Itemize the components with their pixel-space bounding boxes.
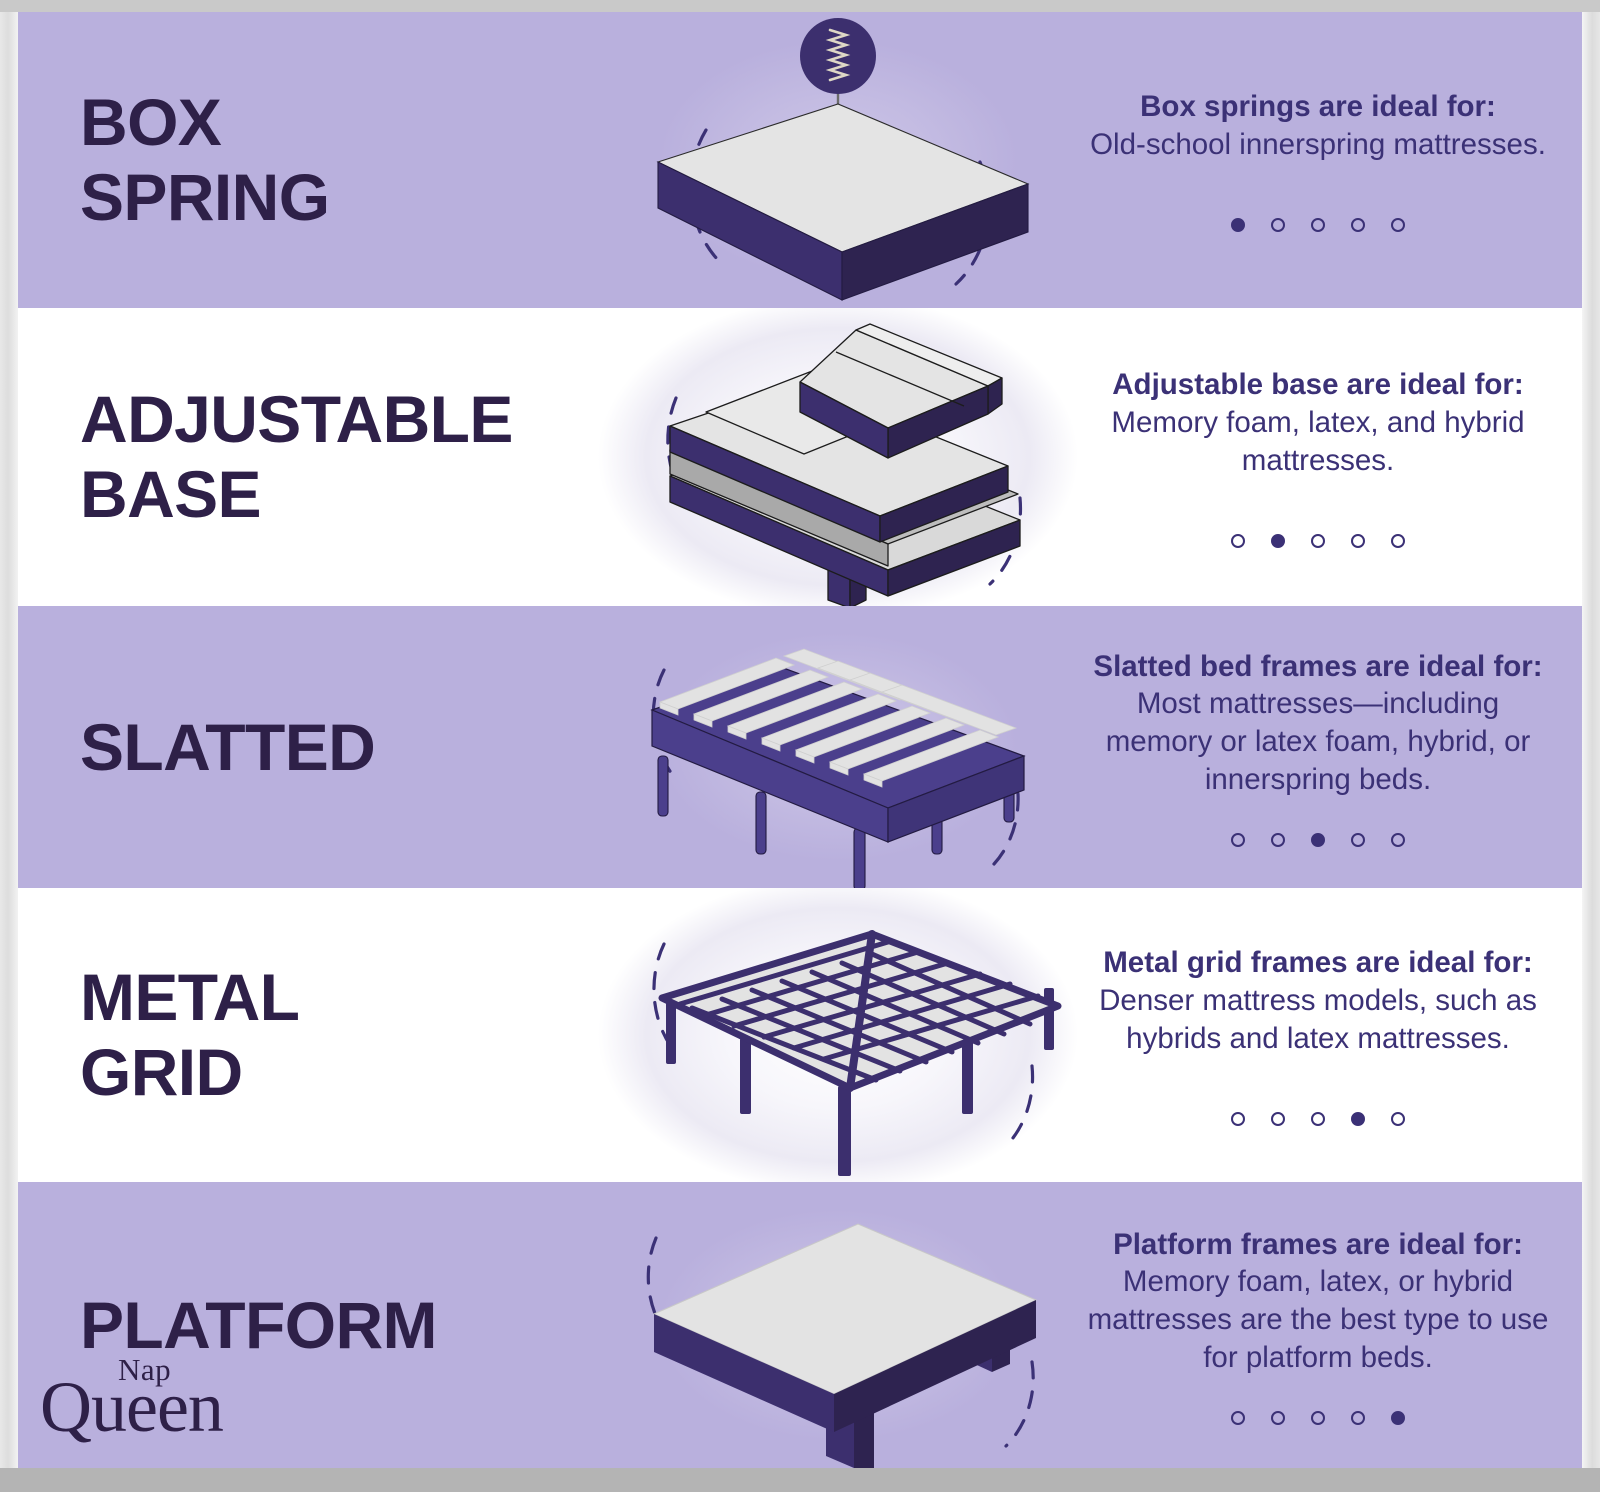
illustration-glow bbox=[588, 1182, 1088, 1468]
blurb-lead: Box springs are ideal for: bbox=[1090, 88, 1546, 126]
progress-dot-4[interactable] bbox=[1351, 833, 1365, 847]
progress-dot-1[interactable] bbox=[1231, 1411, 1245, 1425]
progress-dot-2[interactable] bbox=[1271, 218, 1285, 232]
section-slatted: SLATTED bbox=[18, 606, 1582, 888]
platform-frame-illustration bbox=[588, 1182, 1088, 1468]
text-column: Metal grid frames are ideal for: Denser … bbox=[1058, 888, 1582, 1182]
progress-dot-1[interactable] bbox=[1231, 833, 1245, 847]
section-blurb: Metal grid frames are ideal for: Denser … bbox=[1083, 944, 1553, 1057]
progress-dot-4[interactable] bbox=[1351, 534, 1365, 548]
blurb-body: Memory foam, latex, or hybrid mattresses… bbox=[1083, 1263, 1553, 1376]
progress-dot-4[interactable] bbox=[1351, 1112, 1365, 1126]
page-bottom-edge bbox=[0, 1468, 1600, 1492]
section-blurb: Adjustable base are ideal for: Memory fo… bbox=[1083, 366, 1553, 479]
progress-dot-1[interactable] bbox=[1231, 534, 1245, 548]
illustration-glow bbox=[588, 888, 1088, 1182]
infographic-content: BOX SPRING bbox=[18, 12, 1582, 1468]
section-title: PLATFORM bbox=[80, 1288, 618, 1363]
progress-dot-2[interactable] bbox=[1271, 1112, 1285, 1126]
progress-dots bbox=[1231, 1411, 1405, 1425]
illustration-column bbox=[618, 12, 1058, 308]
progress-dot-2[interactable] bbox=[1271, 1411, 1285, 1425]
text-column: Adjustable base are ideal for: Memory fo… bbox=[1058, 308, 1582, 606]
progress-dot-2[interactable] bbox=[1271, 534, 1285, 548]
section-title: BOX SPRING bbox=[80, 85, 618, 234]
progress-dot-2[interactable] bbox=[1271, 833, 1285, 847]
section-adjustable-base: ADJUSTABLE BASE bbox=[18, 308, 1582, 606]
slatted-frame-illustration bbox=[588, 606, 1088, 888]
progress-dot-1[interactable] bbox=[1231, 218, 1245, 232]
progress-dot-3[interactable] bbox=[1311, 1411, 1325, 1425]
title-column: METAL GRID bbox=[18, 888, 618, 1182]
blurb-lead: Platform frames are ideal for: bbox=[1083, 1226, 1553, 1264]
progress-dots bbox=[1231, 1112, 1405, 1126]
title-column: SLATTED bbox=[18, 606, 618, 888]
text-column: Slatted bed frames are ideal for: Most m… bbox=[1058, 606, 1582, 888]
illustration-column bbox=[618, 308, 1058, 606]
progress-dot-5[interactable] bbox=[1391, 1112, 1405, 1126]
illustration-glow bbox=[588, 12, 1088, 308]
blurb-body: Memory foam, latex, and hybrid mattresse… bbox=[1083, 404, 1553, 480]
infographic-page: BOX SPRING bbox=[0, 0, 1600, 1492]
section-blurb: Platform frames are ideal for: Memory fo… bbox=[1083, 1226, 1553, 1377]
section-box-spring: BOX SPRING bbox=[18, 12, 1582, 308]
illustration-column bbox=[618, 606, 1058, 888]
progress-dots bbox=[1231, 218, 1405, 232]
progress-dots bbox=[1231, 833, 1405, 847]
blurb-lead: Slatted bed frames are ideal for: bbox=[1083, 648, 1553, 686]
progress-dot-4[interactable] bbox=[1351, 218, 1365, 232]
section-blurb: Slatted bed frames are ideal for: Most m… bbox=[1083, 648, 1553, 799]
page-top-edge bbox=[0, 0, 1600, 12]
progress-dot-5[interactable] bbox=[1391, 218, 1405, 232]
text-column: Platform frames are ideal for: Memory fo… bbox=[1058, 1182, 1582, 1468]
progress-dot-5[interactable] bbox=[1391, 1411, 1405, 1425]
text-column: Box springs are ideal for: Old-school in… bbox=[1058, 12, 1582, 308]
progress-dot-3[interactable] bbox=[1311, 1112, 1325, 1126]
section-metal-grid: METAL GRID bbox=[18, 888, 1582, 1182]
adjustable-base-illustration bbox=[588, 308, 1088, 606]
progress-dot-4[interactable] bbox=[1351, 1411, 1365, 1425]
blurb-body: Old-school innerspring mattresses. bbox=[1090, 126, 1546, 164]
illustration-column bbox=[618, 888, 1058, 1182]
section-title: SLATTED bbox=[80, 710, 618, 785]
blurb-lead: Adjustable base are ideal for: bbox=[1083, 366, 1553, 404]
blurb-body: Denser mattress models, such as hybrids … bbox=[1083, 982, 1553, 1058]
metal-grid-illustration bbox=[588, 888, 1088, 1182]
title-column: PLATFORM bbox=[18, 1182, 618, 1468]
progress-dot-1[interactable] bbox=[1231, 1112, 1245, 1126]
illustration-glow bbox=[588, 308, 1088, 606]
progress-dot-3[interactable] bbox=[1311, 218, 1325, 232]
progress-dot-3[interactable] bbox=[1311, 833, 1325, 847]
spring-detail-circle bbox=[800, 18, 876, 94]
blurb-body: Most mattresses—including memory or late… bbox=[1083, 685, 1553, 798]
progress-dot-5[interactable] bbox=[1391, 833, 1405, 847]
section-title: ADJUSTABLE BASE bbox=[80, 382, 618, 531]
title-column: ADJUSTABLE BASE bbox=[18, 308, 618, 606]
section-blurb: Box springs are ideal for: Old-school in… bbox=[1090, 88, 1546, 164]
illustration-column bbox=[618, 1182, 1058, 1468]
progress-dot-5[interactable] bbox=[1391, 534, 1405, 548]
section-platform: PLATFORM bbox=[18, 1182, 1582, 1468]
illustration-glow bbox=[588, 606, 1088, 888]
progress-dot-3[interactable] bbox=[1311, 534, 1325, 548]
blurb-lead: Metal grid frames are ideal for: bbox=[1083, 944, 1553, 982]
section-title: METAL GRID bbox=[80, 960, 618, 1109]
progress-dots bbox=[1231, 534, 1405, 548]
box-spring-illustration bbox=[588, 12, 1088, 308]
title-column: BOX SPRING bbox=[18, 12, 618, 308]
